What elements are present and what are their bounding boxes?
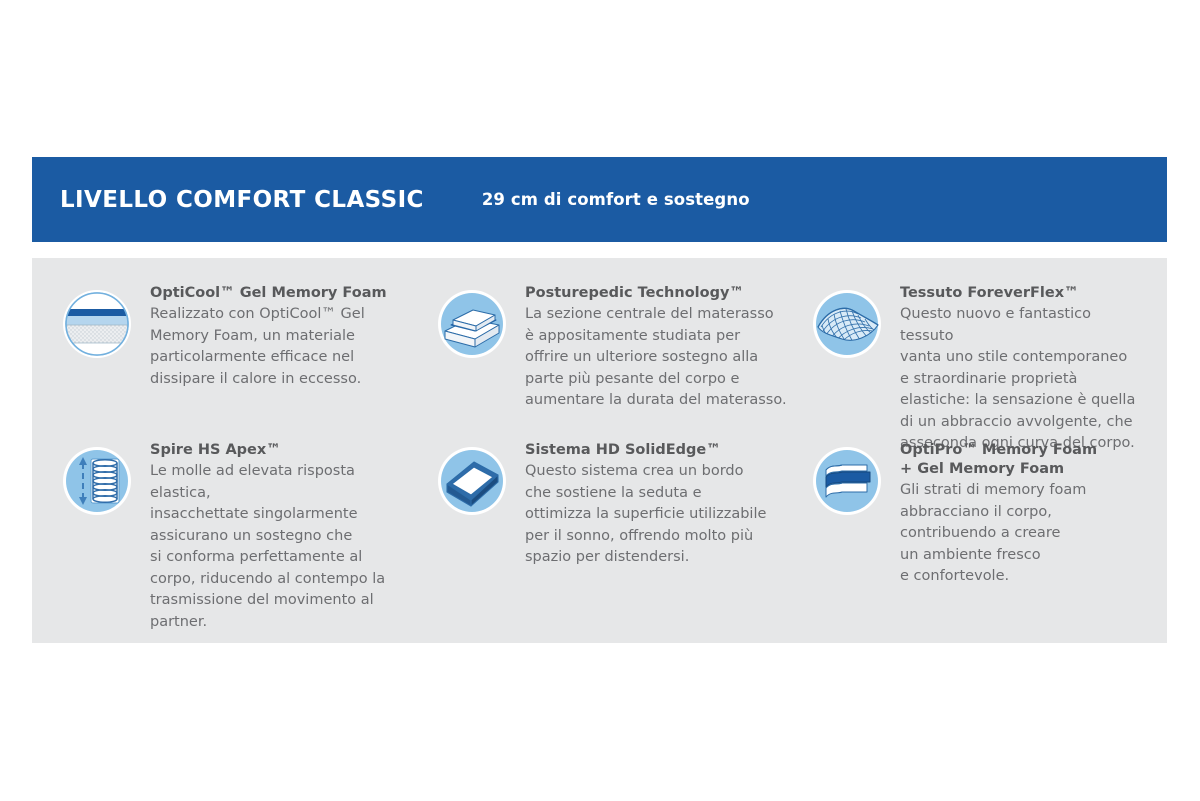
mattress-center-support-icon	[435, 287, 509, 361]
feature-item: OptiPro™ Memory Foam + Gel Memory Foam G…	[810, 441, 1145, 588]
header-text-group: LIVELLO COMFORT CLASSIC 29 cm di comfort…	[60, 157, 750, 242]
feature-description: La sezione centrale del materasso è appo…	[525, 304, 787, 412]
mattress-layers-icon	[60, 287, 134, 361]
feature-title: OptiCool™ Gel Memory Foam	[150, 284, 412, 303]
feature-description: Questo nuovo e fantastico tessuto vanta …	[900, 304, 1145, 455]
header-subtitle: 29 cm di comfort e sostegno	[482, 190, 750, 209]
feature-item: OptiCool™ Gel Memory Foam Realizzato con…	[60, 284, 412, 390]
stretch-fabric-mesh-icon	[810, 287, 884, 361]
feature-title: Tessuto ForeverFlex™	[900, 284, 1145, 303]
comfort-level-header-bar: LIVELLO COMFORT CLASSIC 29 cm di comfort…	[32, 157, 1167, 242]
feature-text-block: OptiCool™ Gel Memory Foam Realizzato con…	[150, 284, 412, 390]
feature-title: Posturepedic Technology™	[525, 284, 787, 303]
feature-text-block: OptiPro™ Memory Foam + Gel Memory Foam G…	[900, 441, 1145, 588]
feature-item: Tessuto ForeverFlex™ Questo nuovo e fant…	[810, 284, 1145, 455]
feature-text-block: Posturepedic Technology™ La sezione cent…	[525, 284, 787, 412]
features-panel: OptiCool™ Gel Memory Foam Realizzato con…	[32, 258, 1167, 643]
feature-item: Posturepedic Technology™ La sezione cent…	[435, 284, 787, 412]
feature-text-block: Spire HS Apex™ Le molle ad elevata rispo…	[150, 441, 412, 633]
feature-description: Le molle ad elevata risposta elastica, i…	[150, 461, 412, 633]
feature-item: Spire HS Apex™ Le molle ad elevata rispo…	[60, 441, 412, 633]
feature-item: Sistema HD SolidEdge™ Questo sistema cre…	[435, 441, 787, 569]
feature-description: Questo sistema crea un bordo che sostien…	[525, 461, 787, 569]
coil-spring-icon	[60, 444, 134, 518]
feature-title: Sistema HD SolidEdge™	[525, 441, 787, 460]
mattress-edge-support-icon	[435, 444, 509, 518]
feature-text-block: Sistema HD SolidEdge™ Questo sistema cre…	[525, 441, 787, 569]
feature-text-block: Tessuto ForeverFlex™ Questo nuovo e fant…	[900, 284, 1145, 455]
feature-description: Gli strati di memory foam abbracciano il…	[900, 480, 1145, 588]
feature-title: OptiPro™ Memory Foam + Gel Memory Foam	[900, 441, 1145, 479]
feature-description: Realizzato con OptiCool™ Gel Memory Foam…	[150, 304, 412, 390]
feature-title: Spire HS Apex™	[150, 441, 412, 460]
infographic-page: LIVELLO COMFORT CLASSIC 29 cm di comfort…	[0, 0, 1200, 801]
header-title: LIVELLO COMFORT CLASSIC	[60, 187, 424, 213]
stacked-foam-layers-icon	[810, 444, 884, 518]
